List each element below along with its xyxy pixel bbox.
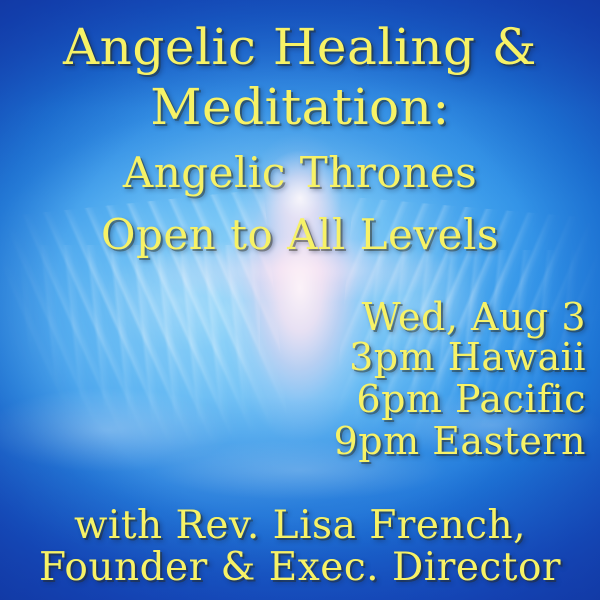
presenter-credit-line-1: with Rev. Lisa French, (0, 506, 600, 545)
event-time-eastern: 9pm Eastern (334, 422, 586, 460)
event-time-pacific: 6pm Pacific (356, 380, 586, 418)
presenter-credit-line-2: Founder & Exec. Director (0, 548, 600, 587)
poster-title-line-1: Angelic Healing & (0, 22, 600, 72)
event-date: Wed, Aug 3 (362, 298, 586, 336)
poster-subtitle-line-1: Angelic Thrones (0, 152, 600, 194)
event-time-hawaii: 3pm Hawaii (349, 338, 586, 376)
angelic-healing-meditation-poster: Angelic Healing & Meditation: Angelic Th… (0, 0, 600, 600)
poster-subtitle-line-2: Open to All Levels (0, 214, 600, 256)
poster-title-line-2: Meditation: (0, 82, 600, 132)
